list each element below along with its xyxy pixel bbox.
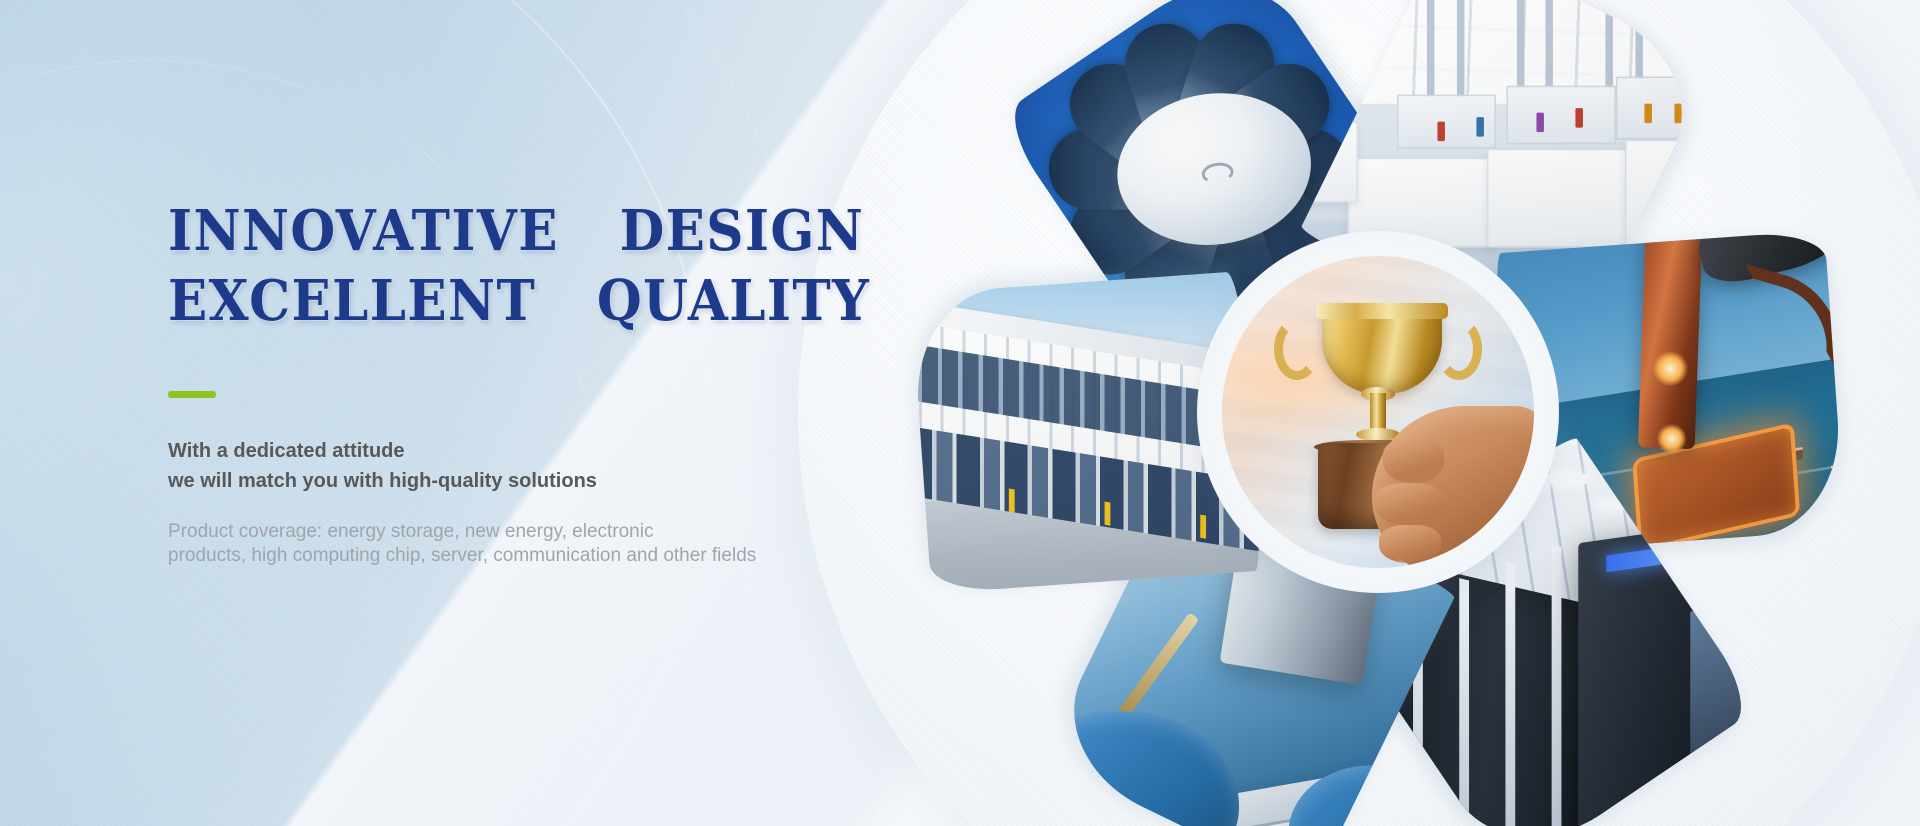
lab-vial — [1675, 104, 1683, 124]
dc-rack-edge — [1551, 545, 1561, 826]
lab-vial — [1437, 122, 1445, 141]
accent-divider — [168, 391, 216, 398]
product-coverage-text: Product coverage: energy storage, new en… — [168, 520, 768, 568]
lab-bench — [1348, 158, 1497, 248]
trophy-photo — [1222, 256, 1534, 568]
solder-spark — [1652, 351, 1687, 386]
dc-rack-edge — [1505, 561, 1515, 826]
page-title: INNOVATIVE DESIGN — [168, 196, 757, 266]
dock-marker — [1201, 515, 1207, 539]
lab-fume-hood — [1506, 86, 1615, 145]
finger — [1379, 525, 1441, 563]
trophy-handle-left — [1274, 318, 1320, 380]
product-coverage-line-2: products, high computing chip, server, c… — [168, 544, 768, 568]
lab-vial — [1477, 117, 1485, 137]
page-subtitle-line: EXCELLENT QUALITY — [168, 266, 757, 336]
trophy-handle-right — [1436, 318, 1482, 380]
tagline-line-2: we will match you with high-quality solu… — [168, 466, 808, 496]
finger — [1375, 483, 1444, 525]
lab-vial — [1645, 104, 1653, 124]
finger — [1383, 437, 1445, 482]
solder-spark — [1657, 424, 1687, 454]
robot-arm-cable — [1724, 264, 1845, 369]
headline-word-excellent: EXCELLENT — [168, 268, 536, 334]
lab-equipment-stem — [1427, 0, 1435, 104]
product-coverage-line-1: Product coverage: energy storage, new en… — [168, 520, 768, 544]
lab-bench — [1487, 149, 1645, 248]
headline-word-design: DESIGN — [620, 198, 865, 264]
lab-vial — [1576, 108, 1584, 128]
dock-marker — [1009, 489, 1015, 513]
lab-vial — [1536, 113, 1544, 133]
tagline: With a dedicated attitude we will match … — [168, 436, 808, 496]
tweezers — [1114, 612, 1200, 723]
headline-word-quality: QUALITY — [597, 268, 870, 334]
tagline-line-1: With a dedicated attitude — [168, 436, 808, 466]
hero-banner: INNOVATIVE DESIGN EXCELLENT QUALITY With… — [0, 0, 1920, 826]
headline-word-innovative: INNOVATIVE — [168, 198, 559, 264]
dock-marker — [1105, 502, 1111, 526]
pinwheel-graphic — [798, 0, 1920, 826]
lab-equipment-stem — [1457, 0, 1465, 104]
hero-copy: INNOVATIVE DESIGN EXCELLENT QUALITY With… — [168, 196, 808, 568]
trophy-rim — [1316, 303, 1448, 319]
robot-arm-shaft — [1638, 230, 1703, 449]
dc-rack-edge — [1459, 578, 1469, 826]
